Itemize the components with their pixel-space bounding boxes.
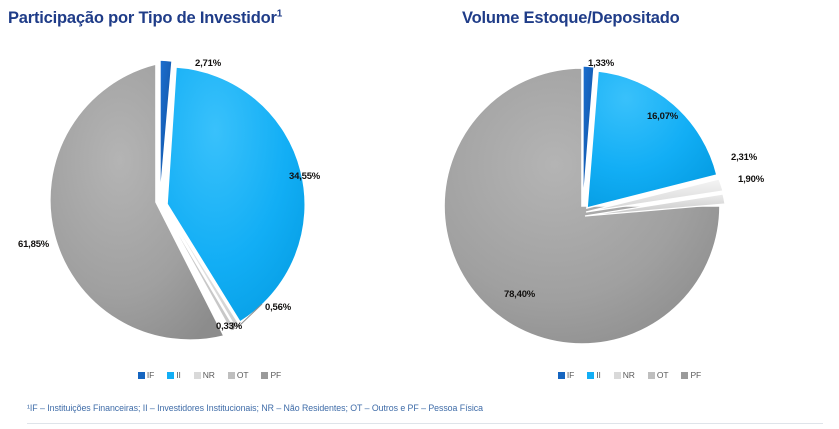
legend-swatch-pf-icon <box>681 372 688 379</box>
footnote-legend-definitions: ¹IF – Instituições Financeiras; II – Inv… <box>27 403 483 413</box>
data-label-if: 1,33% <box>588 58 614 69</box>
legend-swatch-ot-icon <box>228 372 235 379</box>
pie-chart-participacao: 2,71% 34,55% 61,85% 0,56% 0,33% <box>0 46 419 358</box>
legend-item-nr[interactable]: NR <box>194 370 215 380</box>
legend-item-ii[interactable]: II <box>167 370 181 380</box>
data-label-if: 2,71% <box>195 58 221 69</box>
legend-item-if[interactable]: IF <box>138 370 154 380</box>
pie-chart-volume: 1,33% 16,07% 2,31% 1,90% 78,40% <box>420 46 839 358</box>
legend-swatch-nr-icon <box>194 372 201 379</box>
chart-panel-participacao: 2,71% 34,55% 61,85% 0,56% 0,33% IF II NR… <box>0 46 419 386</box>
chart-legend-left: IF II NR OT PF <box>0 370 419 380</box>
legend-label-nr: NR <box>203 370 215 380</box>
page-title-left: Participação por Tipo de Investidor1 <box>8 9 282 28</box>
chart-title-left-superscript: 1 <box>277 9 282 20</box>
legend-item-ii[interactable]: II <box>587 370 601 380</box>
legend-label-ot: OT <box>237 370 249 380</box>
legend-swatch-nr-icon <box>614 372 621 379</box>
legend-label-if: IF <box>567 370 574 380</box>
chart-title-left-text: Participação por Tipo de Investidor <box>8 9 277 27</box>
legend-label-if: IF <box>147 370 154 380</box>
legend-swatch-ii-icon <box>167 372 174 379</box>
legend-item-ot[interactable]: OT <box>648 370 669 380</box>
legend-item-pf[interactable]: PF <box>681 370 701 380</box>
slide-canvas: Participação por Tipo de Investidor1 Vol… <box>0 0 839 429</box>
data-label-ii: 34,55% <box>289 171 320 182</box>
data-label-ot: 1,90% <box>738 174 764 185</box>
page-title-right: Volume Estoque/Depositado <box>462 9 679 28</box>
legend-label-ii: II <box>176 370 181 380</box>
legend-label-pf: PF <box>270 370 281 380</box>
legend-item-nr[interactable]: NR <box>614 370 635 380</box>
chart-legend-right: IF II NR OT PF <box>420 370 839 380</box>
legend-label-nr: NR <box>623 370 635 380</box>
pie-chart-volume-svg <box>420 46 839 358</box>
legend-swatch-if-icon <box>558 372 565 379</box>
data-label-ii: 16,07% <box>647 111 678 122</box>
data-label-nr: 0,56% <box>265 302 291 313</box>
data-label-pf: 78,40% <box>504 289 535 300</box>
legend-swatch-ot-icon <box>648 372 655 379</box>
legend-swatch-pf-icon <box>261 372 268 379</box>
chart-title-right-text: Volume Estoque/Depositado <box>462 9 679 27</box>
data-label-nr: 2,31% <box>731 152 757 163</box>
data-label-ot: 0,33% <box>216 321 242 332</box>
legend-swatch-if-icon <box>138 372 145 379</box>
legend-item-if[interactable]: IF <box>558 370 574 380</box>
legend-label-ii: II <box>596 370 601 380</box>
legend-swatch-ii-icon <box>587 372 594 379</box>
pie-chart-participacao-svg <box>0 46 419 358</box>
footer-divider <box>27 423 823 424</box>
legend-item-pf[interactable]: PF <box>261 370 281 380</box>
legend-label-ot: OT <box>657 370 669 380</box>
legend-label-pf: PF <box>690 370 701 380</box>
data-label-pf: 61,85% <box>18 239 49 250</box>
chart-panel-volume: 1,33% 16,07% 2,31% 1,90% 78,40% IF II NR… <box>420 46 839 386</box>
legend-item-ot[interactable]: OT <box>228 370 249 380</box>
